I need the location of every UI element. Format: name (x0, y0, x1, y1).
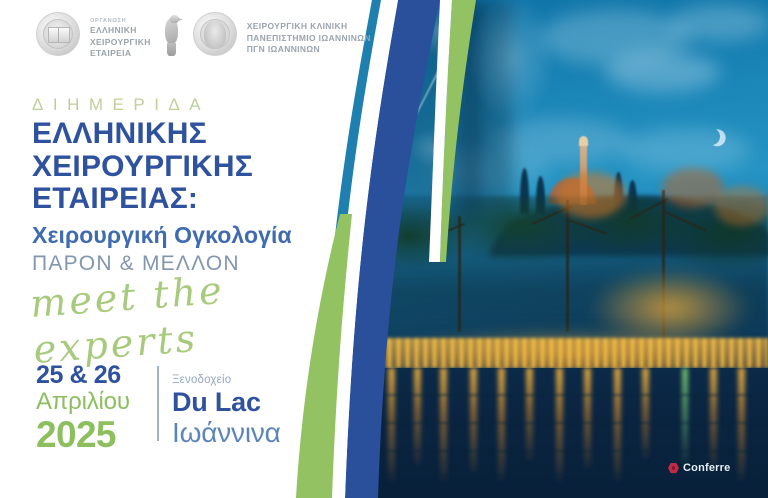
venue-kicker: Ξενοδοχείο (172, 373, 281, 387)
event-venue-block: Ξενοδοχείο Du Lac Ιωάννινα (172, 362, 281, 449)
organizer-line: ΠΑΝΕΠΙΣΤΗΜΙΟ ΙΩΑΝΝΙΝΩΝ (247, 33, 371, 45)
event-year: 2025 (36, 415, 148, 454)
greek-surgical-society-seal-icon (36, 12, 80, 56)
eagle-icon (161, 14, 183, 58)
event-days: 25 & 26 (36, 362, 148, 389)
conference-poster: ΟΡΓΑΝΩΣΗ ΕΛΛΗΝΙΚΗ ΧΕΙΡΟΥΡΓΙΚΗ ΕΤΑΙΡΕΙΑ Χ… (0, 0, 768, 498)
venue-city: Ιωάννινα (172, 417, 281, 449)
conferre-label: Conferre (683, 462, 730, 474)
event-kicker: ΔΙΗΜΕΡΙΔΑ (32, 94, 362, 116)
vertical-divider (157, 366, 159, 441)
organizer-line: ΕΛΛΗΝΙΚΗ (90, 25, 151, 37)
university-of-ioannina-seal-icon (193, 12, 237, 56)
organizer-kicker: ΟΡΓΑΝΩΣΗ (90, 17, 151, 25)
organizer-line: ΧΕΙΡΟΥΡΓΙΚΗ ΚΛΙΝΙΚΗ (247, 21, 371, 33)
organizer-line: ΧΕΙΡΟΥΡΓΙΚΗ (90, 37, 151, 49)
event-date-block: 25 & 26 Απριλίου 2025 (36, 362, 148, 454)
organizer-line: ΠΓΝ ΙΩΑΝΝΙΝΩΝ (247, 44, 371, 56)
organizer-line: ΕΤΑΙΡΕΙΑ (90, 48, 151, 60)
title-line-2: ΧΕΙΡΟΥΡΓΙΚΗΣ (32, 152, 362, 182)
organizer-2-text: ΧΕΙΡΟΥΡΓΙΚΗ ΚΛΙΝΙΚΗ ΠΑΝΕΠΙΣΤΗΜΙΟ ΙΩΑΝΝΙΝ… (247, 12, 371, 56)
title-line-3: ΕΤΑΙΡΕΙΑΣ: (32, 184, 362, 214)
venue-name: Du Lac (172, 387, 281, 417)
conferre-logo[interactable]: Conferre (668, 462, 730, 474)
title-block: ΔΙΗΜΕΡΙΔΑ ΕΛΛΗΝΙΚΗΣ ΧΕΙΡΟΥΡΓΙΚΗΣ ΕΤΑΙΡΕΙ… (32, 94, 362, 373)
event-details: 25 & 26 Απριλίου 2025 Ξενοδοχείο Du Lac … (36, 362, 281, 454)
organizer-logos: ΟΡΓΑΝΩΣΗ ΕΛΛΗΝΙΚΗ ΧΕΙΡΟΥΡΓΙΚΗ ΕΤΑΙΡΕΙΑ Χ… (36, 12, 371, 60)
title-line-1: ΕΛΛΗΝΙΚΗΣ (32, 119, 362, 149)
conferre-hex-icon (668, 463, 679, 474)
content-panel: ΟΡΓΑΝΩΣΗ ΕΛΛΗΝΙΚΗ ΧΕΙΡΟΥΡΓΙΚΗ ΕΤΑΙΡΕΙΑ Χ… (0, 0, 372, 498)
organizer-1-text: ΟΡΓΑΝΩΣΗ ΕΛΛΗΝΙΚΗ ΧΕΙΡΟΥΡΓΙΚΗ ΕΤΑΙΡΕΙΑ (90, 12, 151, 60)
title-subtitle: Χειρουργική Ογκολογία (32, 220, 362, 250)
event-month: Απριλίου (36, 389, 148, 415)
